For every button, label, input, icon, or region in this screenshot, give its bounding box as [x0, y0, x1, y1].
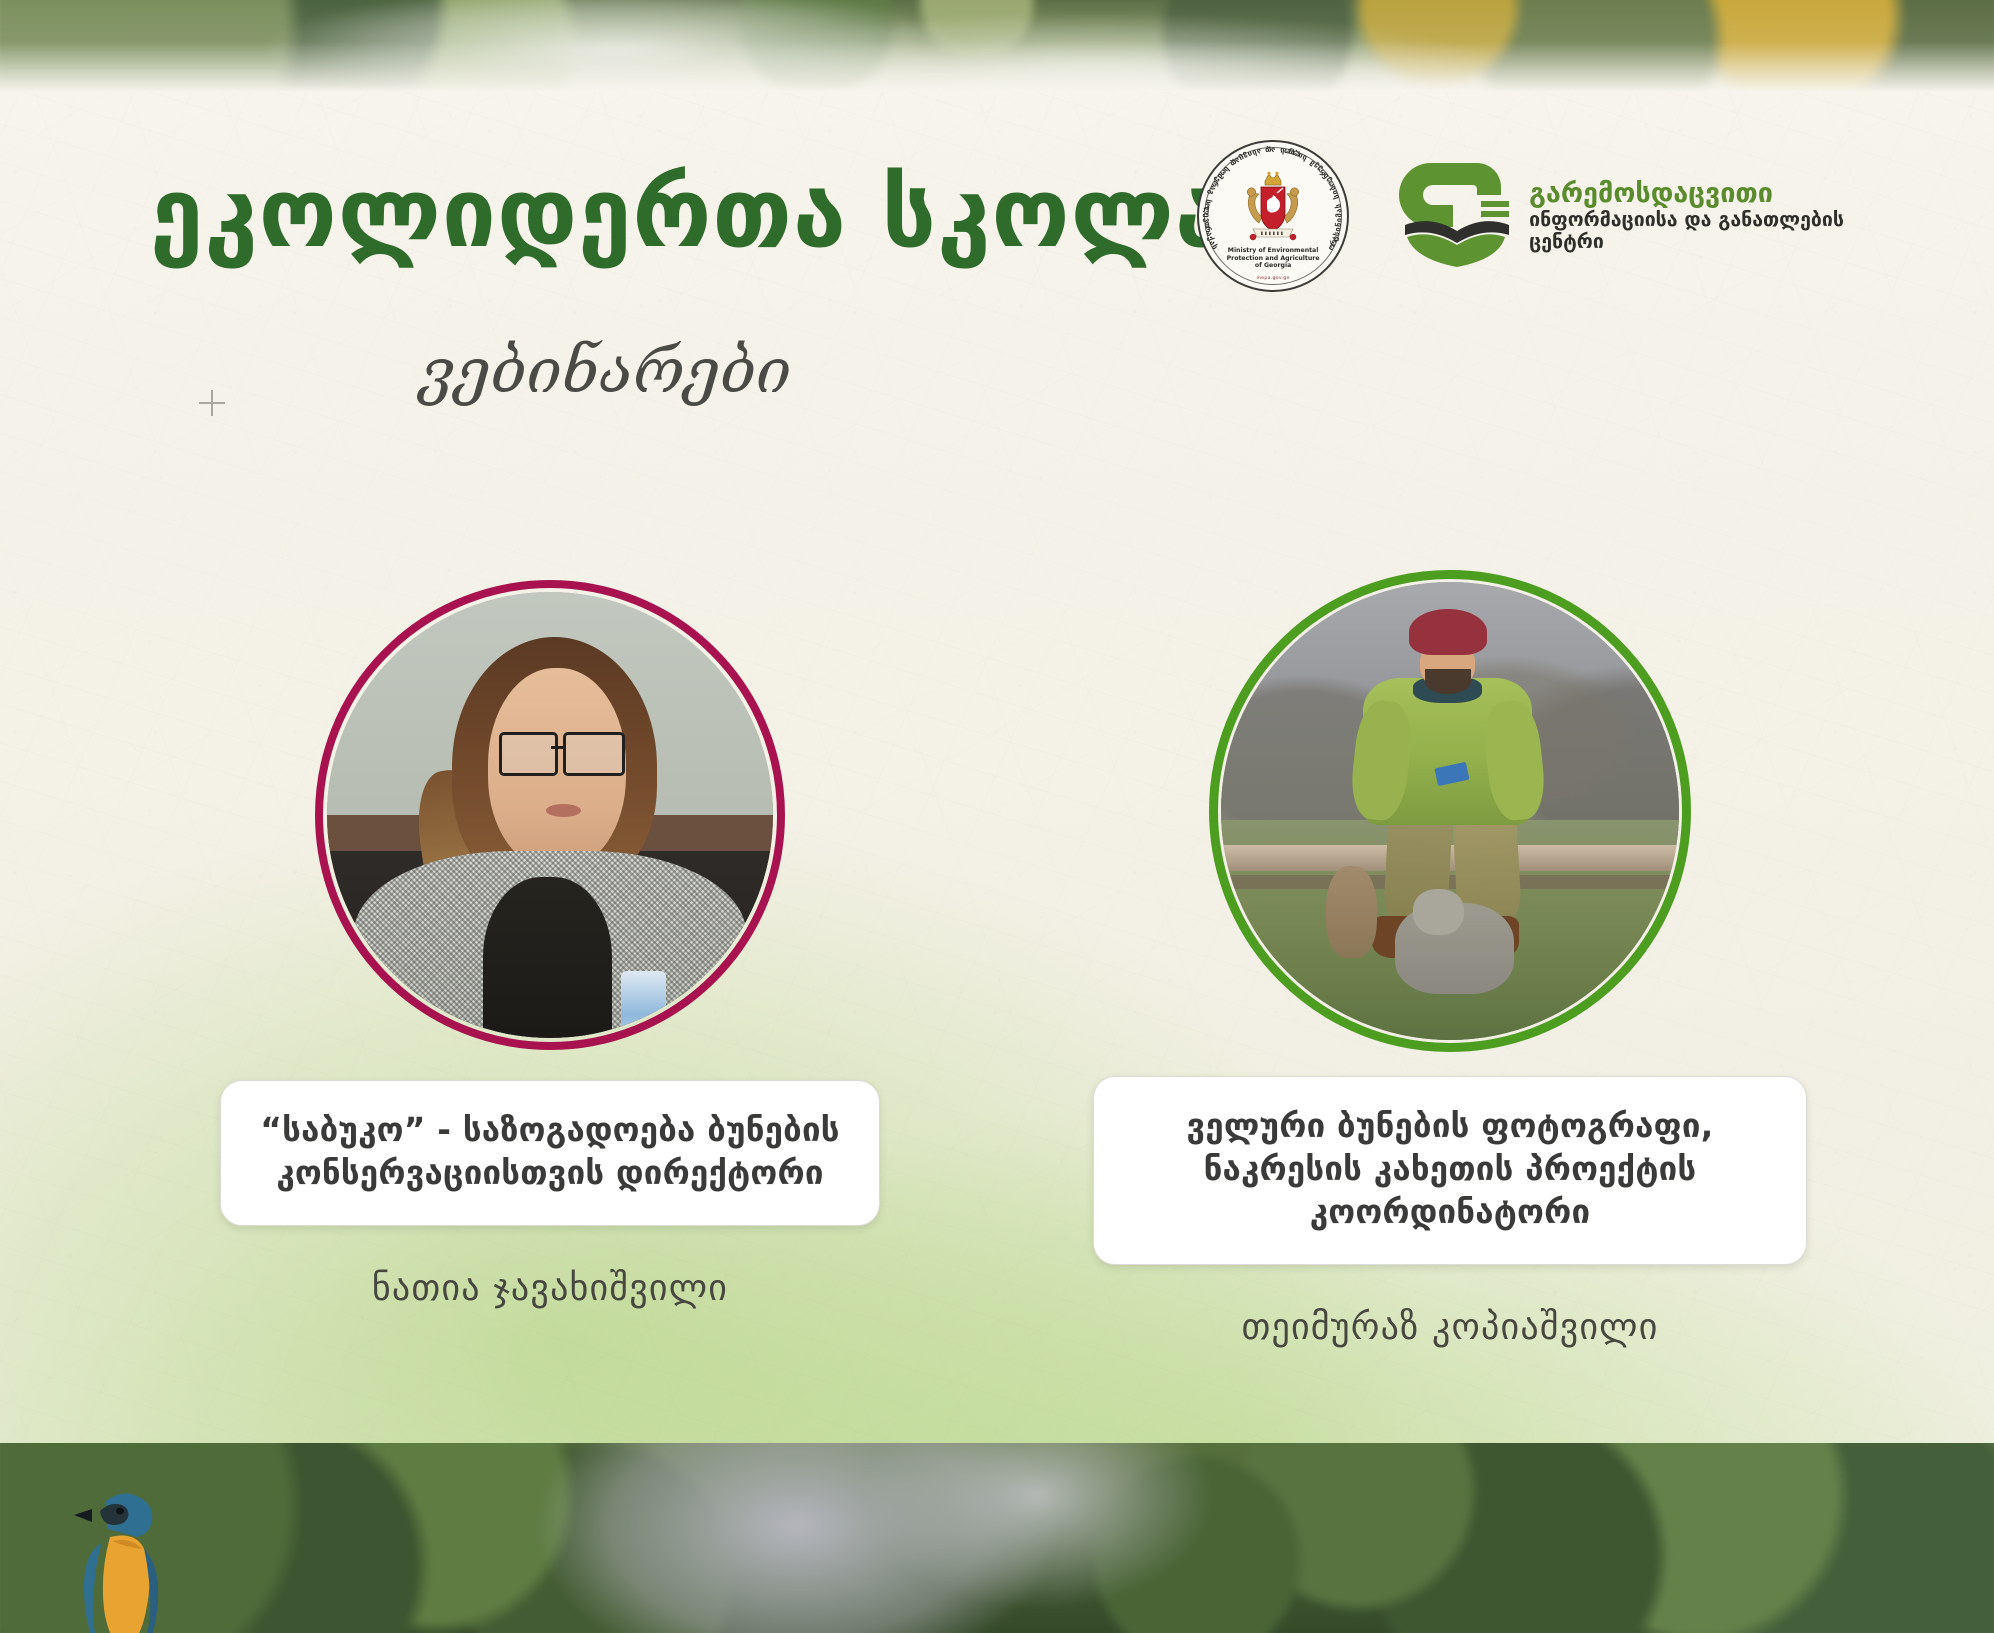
logo-group: საქართველოს გარემოს დაცვისა და სოფლის მე…: [1197, 140, 1844, 292]
eiec-logo: გარემოსდაცვითი ინფორმაციისა და განათლები…: [1395, 157, 1844, 275]
header: ეკოლიდერთა სკოლა ვებინარები საქართველოს …: [0, 0, 1994, 470]
speaker-card-2: ველური ბუნების ფოტოგრაფი, ნაკრესის კახეთ…: [1070, 570, 1830, 1348]
speaker-1-role: “საბუკო” - საზოგადოება ბუნების კონსერვაც…: [247, 1109, 853, 1195]
eiec-line3: ცენტრი: [1529, 231, 1844, 253]
speaker-2-role-line3: კოორდინატორი: [1120, 1191, 1780, 1234]
speaker-2-ring: [1209, 570, 1691, 1052]
speaker-2-caption-card: ველური ბუნების ფოტოგრაფი, ნაკრესის კახეთ…: [1093, 1076, 1807, 1265]
seal-en-line3: of Georgia: [1199, 262, 1347, 270]
bluethroat-bird-icon: [48, 1475, 198, 1633]
speaker-1-ring: [315, 580, 785, 1050]
bottom-nature-banner: [0, 1443, 1994, 1633]
eiec-book-icon: [1395, 157, 1517, 275]
eiec-line1: გარემოსდაცვითი: [1529, 179, 1844, 209]
eiec-logo-text: გარემოსდაცვითი ინფორმაციისა და განათლები…: [1529, 179, 1844, 253]
eiec-line2: ინფორმაციისა და განათლების: [1529, 209, 1844, 231]
speaker-2-avatar: [1209, 570, 1691, 1052]
georgia-coat-of-arms-icon: [1231, 171, 1315, 249]
speaker-1-role-line1: “საბუკო” - საზოგადოება ბუნების: [247, 1109, 853, 1152]
ministry-seal-logo: საქართველოს გარემოს დაცვისა და სოფლის მე…: [1197, 140, 1349, 292]
speaker-2-role-line1: ველური ბუნების ფოტოგრაფი,: [1120, 1105, 1780, 1148]
seal-en-line2: Protection and Agriculture: [1199, 255, 1347, 263]
speaker-2-role-line2: ნაკრესის კახეთის პროექტის: [1120, 1148, 1780, 1191]
speaker-2-name: თეიმურაზ კოპიაშვილი: [1070, 1307, 1830, 1348]
page-title: ეკოლიდერთა სკოლა: [150, 165, 1229, 261]
speaker-1-caption-card: “საბუკო” - საზოგადოება ბუნების კონსერვაც…: [220, 1080, 880, 1226]
poster-slide: ეკოლიდერთა სკოლა ვებინარები საქართველოს …: [0, 0, 1994, 1633]
seal-english-text: Ministry of Environmental Protection and…: [1199, 247, 1347, 270]
forest-river-image: [0, 1443, 1994, 1633]
speaker-1-role-line2: კონსერვაციისთვის დირექტორი: [247, 1152, 853, 1195]
page-subtitle: ვებინარები: [420, 340, 791, 402]
speaker-1-name: ნათია ჯავახიშვილი: [170, 1268, 930, 1309]
speaker-card-1: “საბუკო” - საზოგადოება ბუნების კონსერვაც…: [170, 580, 930, 1309]
seal-url: mepa.gov.ge: [1199, 276, 1347, 281]
speaker-2-role: ველური ბუნების ფოტოგრაფი, ნაკრესის კახეთ…: [1120, 1105, 1780, 1234]
speaker-1-avatar: [315, 580, 785, 1050]
seal-en-line1: Ministry of Environmental: [1199, 247, 1347, 255]
